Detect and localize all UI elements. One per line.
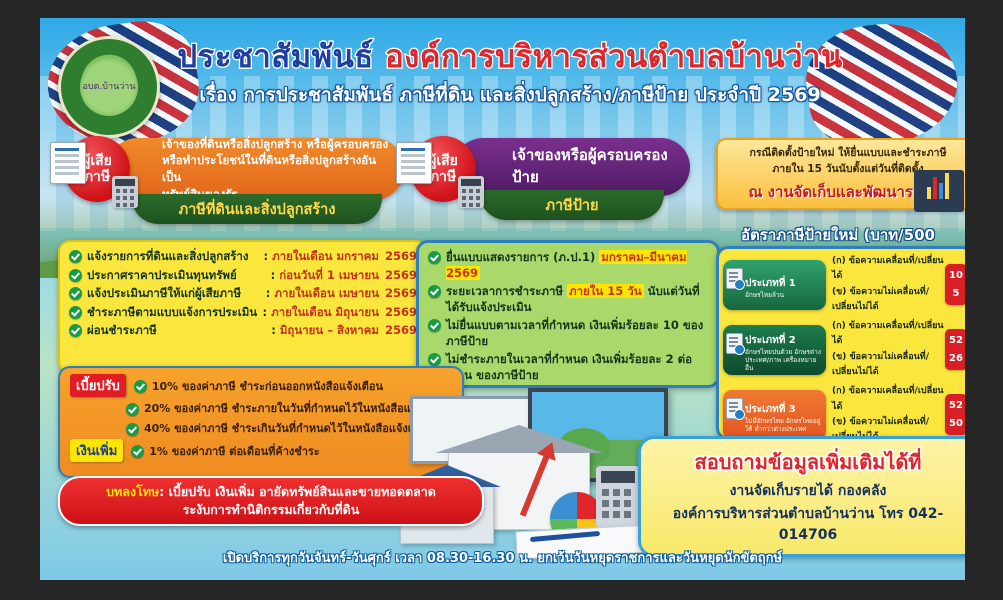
schedule-year: 2569 xyxy=(385,268,417,284)
punishment-line1: : เบี้ยปรับ เงินเพิ่ม อายัดทรัพย์สินและข… xyxy=(159,484,436,499)
schedule-label: ประกาศราคาประเมินทุนทรัพย์ xyxy=(87,268,267,284)
section-tab-land-tax: ภาษีที่ดินและสิ่งปลูกสร้าง xyxy=(132,194,382,224)
check-icon xyxy=(428,319,441,332)
check-icon xyxy=(126,403,139,416)
notice-line1: กรณีติดตั้งป้ายใหม่ ให้ยื่นแบบและชำระภาษ… xyxy=(726,146,965,162)
sign-payer-text: เจ้าของหรือผู้ครอบครองป้าย xyxy=(454,139,690,195)
sign-rate-table: ประเภทที่ 1 อักษรไทยล้วน (ก) ข้อความเคลื… xyxy=(716,246,965,440)
check-icon xyxy=(428,353,441,366)
punishment-line2: ระงับการทำนิติกรรมเกี่ยวกับที่ดิน xyxy=(70,501,472,519)
check-icon xyxy=(69,306,82,319)
organization-logo: อบต.บ้านว่าน xyxy=(58,36,160,138)
rate-value: 50 xyxy=(945,415,965,433)
sign-rule-row: ไม่ชำระภายในเวลาที่กำหนด เงินเพิ่มร้อยละ… xyxy=(428,352,708,383)
clipboard-check-icon xyxy=(726,268,743,289)
penalty-extra-text: 1% ของค่าภาษี ต่อเดือนที่ค้างชำระ xyxy=(149,442,319,460)
sign-rule-pre: ไม่ชำระภายในเวลาที่กำหนด เงินเพิ่มร้อยละ… xyxy=(446,352,708,383)
rate-item-labels: (ก) ข้อความเคลื่อนที่/เปลี่ยนได้ (ข) ข้อ… xyxy=(826,319,945,380)
rate-type-tab: ประเภทที่ 1 อักษรไทยล้วน xyxy=(723,260,826,310)
rate-item-labels: (ก) ข้อความเคลื่อนที่/เปลี่ยนได้ (ข) ข้อ… xyxy=(826,254,945,315)
land-payer-line1: เจ้าของที่ดินหรือสิ่งปลูกสร้าง หรือผู้คร… xyxy=(162,136,394,153)
title-primary: ประชาสัมพันธ์ xyxy=(177,39,373,75)
penalty-fine-text: 40% ของค่าภาษี ชำระเกินวันที่กำหนดไว้ในห… xyxy=(144,419,433,437)
schedule-label: ผ่อนชำระภาษี xyxy=(87,323,267,339)
schedule-label: แจ้งประเมินภาษีให้แก่ผู้เสียภาษี xyxy=(87,286,262,302)
title-organization: องค์การบริหารส่วนตำบลบ้านว่าน xyxy=(385,39,843,75)
rate-value-badge: 52 26 xyxy=(945,329,965,370)
rate-type-name: ประเภทที่ 2 xyxy=(745,335,796,346)
land-payer-line2: หรือทำประโยชน์ในที่ดินหรือสิ่งปลูกสร้างอ… xyxy=(162,152,394,185)
rate-value: 52 xyxy=(945,397,965,415)
rate-item-label: (ก) ข้อความเคลื่อนที่/เปลี่ยนได้ xyxy=(832,254,945,285)
rate-type-name: ประเภทที่ 1 xyxy=(745,278,796,289)
sign-rule-highlight: ภายใน 15 วัน xyxy=(567,284,644,298)
check-icon xyxy=(69,324,82,337)
rate-type-tab: ประเภทที่ 2 อักษรไทยปนด้วย อักษรต่างประเ… xyxy=(723,325,826,375)
rate-type-sub: ไม่มีอักษรไทย อักษรไทยอยู่ใต้ ต่ำกว่าต่า… xyxy=(745,417,823,433)
penalty-row: 40% ของค่าภาษี ชำระเกินวันที่กำหนดไว้ในห… xyxy=(70,419,452,437)
schedule-row: ผ่อนชำระภาษี : มิถุนายน – สิงหาคม 2569 xyxy=(69,323,417,339)
check-icon xyxy=(69,250,82,263)
calculator-icon-land xyxy=(112,176,138,208)
sign-rule-pre: ยื่นแบบแสดงรายการ (ภ.ป.1) xyxy=(446,250,595,264)
clipboard-check-icon xyxy=(726,398,743,419)
section-tab-sign-tax: ภาษีป้าย xyxy=(480,190,664,220)
schedule-year: 2569 xyxy=(385,323,417,339)
logo-inner-emblem: อบต.บ้านว่าน xyxy=(80,58,138,116)
rate-type-tab: ประเภทที่ 3 ไม่มีอักษรไทย อักษรไทยอยู่ใต… xyxy=(723,390,826,440)
rate-value: 52 xyxy=(945,332,965,350)
sign-rule-pre: ระยะเวลาการชำระภาษี xyxy=(446,284,563,298)
schedule-row: ประกาศราคาประเมินทุนทรัพย์ : ก่อนวันที่ … xyxy=(69,268,417,284)
schedule-row: ชำระภาษีตามแบบแจ้งการประเมิน : ภายในเดือ… xyxy=(69,305,417,321)
clipboard-check-icon xyxy=(726,333,743,354)
contact-box: สอบถามข้อมูลเพิ่มเติมได้ที่ งานจัดเก็บรา… xyxy=(638,436,965,557)
penalty-row: 20% ของค่าภาษี ชำระภายในวันที่กำหนดไว้ใน… xyxy=(70,399,452,417)
rate-value-badge: 10 5 xyxy=(945,264,965,305)
schedule-year: 2569 xyxy=(385,305,417,321)
penalty-fine-tag: เบี้ยปรับ xyxy=(70,374,126,397)
schedule-label: ชำระภาษีตามแบบแจ้งการประเมิน xyxy=(87,305,258,321)
schedule-when: ก่อนวันที่ 1 เมษายน xyxy=(279,268,379,284)
poster-canvas: อบต.บ้านว่าน ประชาสัมพันธ์ องค์การบริหาร… xyxy=(40,18,965,580)
schedule-year: 2569 xyxy=(385,286,417,302)
schedule-when: มิถุนายน – สิงหาคม xyxy=(280,323,379,339)
chart-monitor-icon xyxy=(914,170,964,212)
check-icon xyxy=(428,251,441,264)
check-icon xyxy=(69,287,82,300)
calculator-icon-sign xyxy=(458,176,484,208)
check-icon xyxy=(134,380,147,393)
calculator-large-icon xyxy=(596,466,640,528)
rate-value: 5 xyxy=(945,285,965,303)
sign-rule-row: ไม่ยื่นแบบตามเวลาที่กำหนด เงินเพิ่มร้อยล… xyxy=(428,318,708,349)
punishment-label: บทลงโทษ xyxy=(106,484,159,499)
rate-table-row: ประเภทที่ 1 อักษรไทยล้วน (ก) ข้อความเคลื… xyxy=(723,254,965,315)
rate-type-name: ประเภทที่ 3 xyxy=(745,404,796,415)
sign-tax-rules-panel: ยื่นแบบแสดงรายการ (ภ.ป.1) มกราคม–มีนาคม … xyxy=(416,240,720,388)
rate-value-badge: 52 50 xyxy=(945,394,965,435)
check-icon xyxy=(126,423,139,436)
rate-table-row: ประเภทที่ 2 อักษรไทยปนด้วย อักษรต่างประเ… xyxy=(723,319,965,380)
penalty-fine-text: 10% ของค่าภาษี ชำระก่อนออกหนังสือแจ้งเตื… xyxy=(152,377,383,395)
check-icon xyxy=(428,285,441,298)
check-icon xyxy=(131,445,144,458)
contact-line1: งานจัดเก็บรายได้ กองคลัง xyxy=(649,481,965,501)
sign-rule-row: ระยะเวลาการชำระภาษี ภายใน 15 วัน นับแต่ว… xyxy=(428,284,708,315)
schedule-when: ภายในเดือน มิถุนายน xyxy=(271,305,379,321)
taxpayer-definition-land: เจ้าของที่ดินหรือสิ่งปลูกสร้าง หรือผู้คร… xyxy=(108,138,404,200)
rate-item-label: (ก) ข้อความเคลื่อนที่/เปลี่ยนได้ xyxy=(832,319,945,350)
schedule-year: 2569 xyxy=(385,249,417,265)
contact-line2: องค์การบริหารส่วนตำบลบ้านว่าน โทร 042-01… xyxy=(649,504,965,545)
schedule-row: แจ้งประเมินภาษีให้แก่ผู้เสียภาษี : ภายใน… xyxy=(69,286,417,302)
taxpayer-definition-sign: เจ้าของหรือผู้ครอบครองป้าย xyxy=(454,138,690,196)
new-sign-notice: กรณีติดตั้งป้ายใหม่ ให้ยื่นแบบและชำระภาษ… xyxy=(716,138,965,210)
document-icon-land xyxy=(50,142,86,184)
rate-value: 26 xyxy=(945,350,965,368)
penalty-row: เบี้ยปรับ 10% ของค่าภาษี ชำระก่อนออกหนัง… xyxy=(70,374,452,397)
rate-item-label: (ก) ข้อความเคลื่อนที่/เปลี่ยนได้ xyxy=(832,384,945,415)
schedule-row: แจ้งรายการที่ดินและสิ่งปลูกสร้าง : ภายใน… xyxy=(69,249,417,265)
penalty-row: เงินเพิ่ม 1% ของค่าภาษี ต่อเดือนที่ค้างช… xyxy=(70,439,452,462)
title-subtitle: เรื่อง การประชาสัมพันธ์ ภาษีที่ดิน และสิ… xyxy=(160,80,860,110)
schedule-label: แจ้งรายการที่ดินและสิ่งปลูกสร้าง xyxy=(87,249,260,265)
sign-rule-row: ยื่นแบบแสดงรายการ (ภ.ป.1) มกราคม–มีนาคม … xyxy=(428,250,708,281)
rate-type-sub: อักษรไทยปนด้วย อักษรต่างประเทศ/ภาพ เครื่… xyxy=(745,348,823,372)
page-title: ประชาสัมพันธ์ องค์การบริหารส่วนตำบลบ้านว… xyxy=(160,40,860,110)
schedule-when: ภายในเดือน เมษายน xyxy=(274,286,379,302)
punishment-bar: บทลงโทษ: เบี้ยปรับ เงินเพิ่ม อายัดทรัพย์… xyxy=(58,476,484,526)
land-tax-schedule-panel: แจ้งรายการที่ดินและสิ่งปลูกสร้าง : ภายใน… xyxy=(58,240,428,374)
rate-item-label: (ข) ข้อความไม่เคลื่อนที่/เปลี่ยนไม่ได้ xyxy=(832,350,945,381)
contact-heading: สอบถามข้อมูลเพิ่มเติมได้ที่ xyxy=(649,446,965,478)
schedule-when: ภายในเดือน มกราคม xyxy=(272,249,379,265)
penalty-extra-tag: เงินเพิ่ม xyxy=(70,439,123,462)
rate-type-sub: อักษรไทยล้วน xyxy=(745,291,796,299)
rate-item-label: (ข) ข้อความไม่เคลื่อนที่/เปลี่ยนไม่ได้ xyxy=(832,285,945,316)
rate-value: 10 xyxy=(945,267,965,285)
service-hours: เปิดบริการทุกวันจันทร์-วันศุกร์ เวลา 08.… xyxy=(40,547,965,568)
document-icon-sign xyxy=(396,142,432,184)
check-icon xyxy=(69,269,82,282)
sign-rule-pre: ไม่ยื่นแบบตามเวลาที่กำหนด เงินเพิ่มร้อยล… xyxy=(446,318,708,349)
